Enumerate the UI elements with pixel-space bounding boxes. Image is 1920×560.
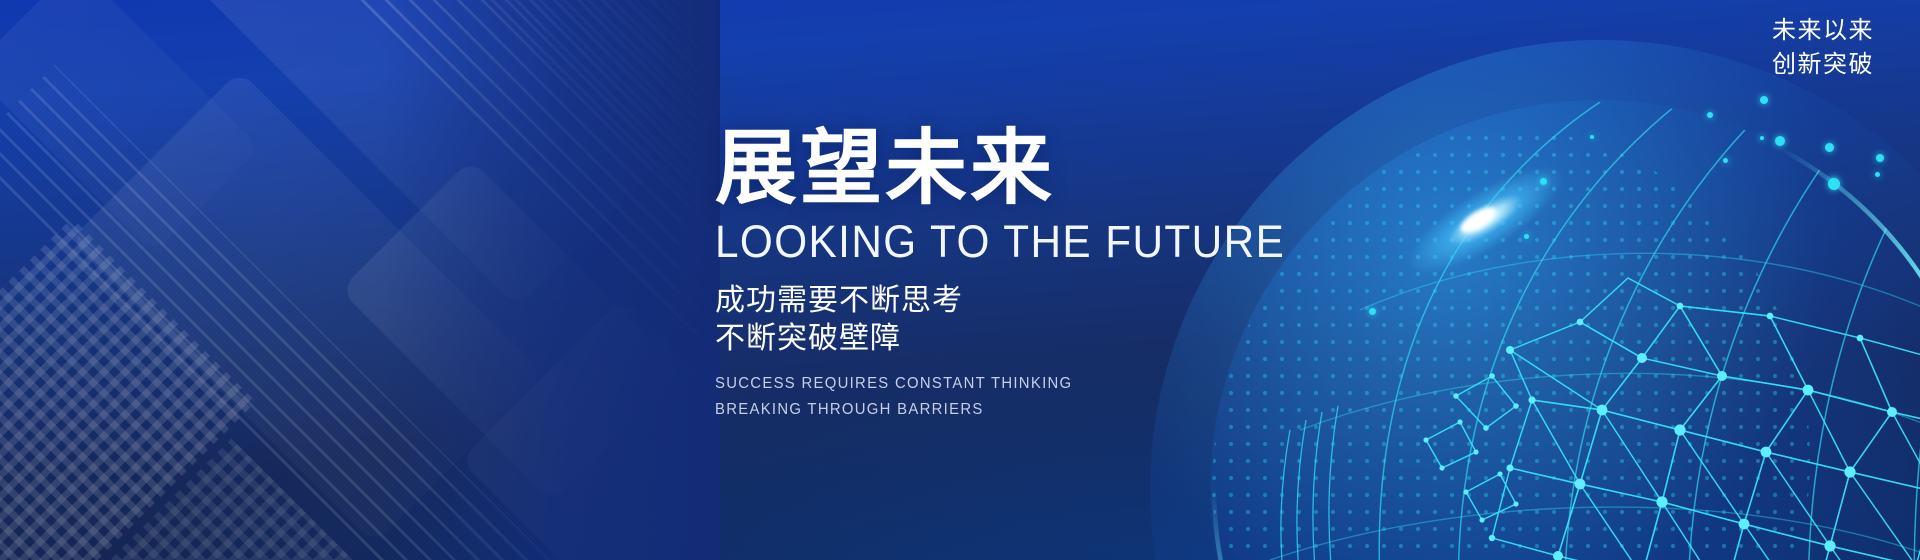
chinese-tagline: 成功需要不断思考 不断突破壁障 bbox=[715, 282, 1475, 359]
english-tagline: SUCCESS REQUIRES CONSTANT THINKING BREAK… bbox=[715, 371, 1475, 422]
corner-tagline-line-1: 未来以来 bbox=[1772, 14, 1874, 48]
corner-tagline: 未来以来 创新突破 bbox=[1772, 14, 1874, 82]
hero-copy: 展望未来 LOOKING TO THE FUTURE 成功需要不断思考 不断突破… bbox=[715, 128, 1475, 423]
geo-fade-overlay bbox=[380, 0, 720, 560]
chinese-tagline-line-2: 不断突破壁障 bbox=[715, 320, 1475, 358]
hero-banner: 未来以来 创新突破 展望未来 LOOKING TO THE FUTURE 成功需… bbox=[0, 0, 1920, 560]
english-tagline-line-1: SUCCESS REQUIRES CONSTANT THINKING bbox=[715, 371, 1445, 397]
page-title: 展望未来 bbox=[715, 128, 1475, 210]
corner-tagline-line-2: 创新突破 bbox=[1772, 48, 1874, 82]
left-geometric-pattern bbox=[0, 0, 720, 560]
page-subtitle: LOOKING TO THE FUTURE bbox=[715, 218, 1429, 266]
english-tagline-line-2: BREAKING THROUGH BARRIERS bbox=[715, 397, 1445, 423]
chinese-tagline-line-1: 成功需要不断思考 bbox=[715, 282, 1475, 320]
